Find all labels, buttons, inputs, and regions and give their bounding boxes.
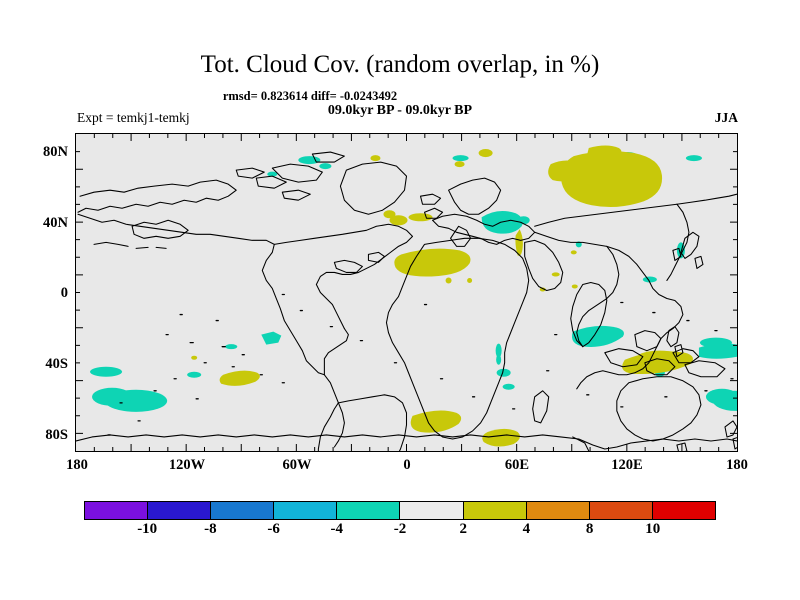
colorbar-segment-5[interactable]: [399, 502, 462, 519]
colorbar-tick-minus10: -10: [137, 521, 157, 538]
xtick-label-180e: 180: [726, 457, 748, 474]
colorbar-segment-2[interactable]: [210, 502, 273, 519]
map-canvas: [76, 134, 737, 451]
colorbar-segment-6[interactable]: [463, 502, 526, 519]
colorbar-tick-plus8: 8: [586, 521, 594, 538]
xtick-label-60w: 60W: [283, 457, 312, 474]
climate-anomaly-figure: Tot. Cloud Cov. (random overlap, in %) r…: [0, 0, 800, 600]
colorbar-segment-3[interactable]: [273, 502, 336, 519]
xtick-label-120w: 120W: [169, 457, 205, 474]
page-title: Tot. Cloud Cov. (random overlap, in %): [0, 50, 800, 80]
colorbar-tick-minus8: -8: [204, 521, 217, 538]
colorbar-tick-minus2: -2: [394, 521, 407, 538]
anomaly-shading-layer: [90, 146, 737, 447]
ytick-label-40s: 40S: [26, 356, 68, 373]
colorbar-segment-4[interactable]: [336, 502, 399, 519]
colorbar-segment-8[interactable]: [589, 502, 652, 519]
statistics-annotation: rmsd= 0.823614 diff= -0.0243492: [0, 89, 620, 103]
colorbar-tick-plus4: 4: [523, 521, 531, 538]
ytick-label-80s: 80S: [26, 427, 68, 444]
colorbar-tick-minus4: -4: [331, 521, 344, 538]
colorbar-segment-1[interactable]: [147, 502, 210, 519]
colorbar-segment-7[interactable]: [526, 502, 589, 519]
colorbar-tick-plus2: 2: [459, 521, 467, 538]
colorbar-segment-0[interactable]: [85, 502, 147, 519]
colorbar-tick-plus10: 10: [645, 521, 660, 538]
season-label: JJA: [715, 110, 738, 125]
colorbar-segment-9[interactable]: [652, 502, 715, 519]
colorbar-tick-minus6: -6: [267, 521, 280, 538]
positive-anomaly-patches: [191, 146, 693, 447]
xtick-label-120e: 120E: [611, 457, 642, 474]
ytick-label-80n: 80N: [26, 144, 68, 161]
experiment-label: Expt = temkj1-temkj: [77, 110, 190, 125]
colorbar[interactable]: [84, 501, 716, 520]
xtick-label-180w: 180: [66, 457, 88, 474]
xtick-label-60e: 60E: [505, 457, 529, 474]
world-map-plot[interactable]: [75, 133, 738, 452]
ytick-label-40n: 40N: [26, 215, 68, 232]
ytick-label-0: 0: [26, 285, 68, 302]
xtick-label-0: 0: [403, 457, 410, 474]
